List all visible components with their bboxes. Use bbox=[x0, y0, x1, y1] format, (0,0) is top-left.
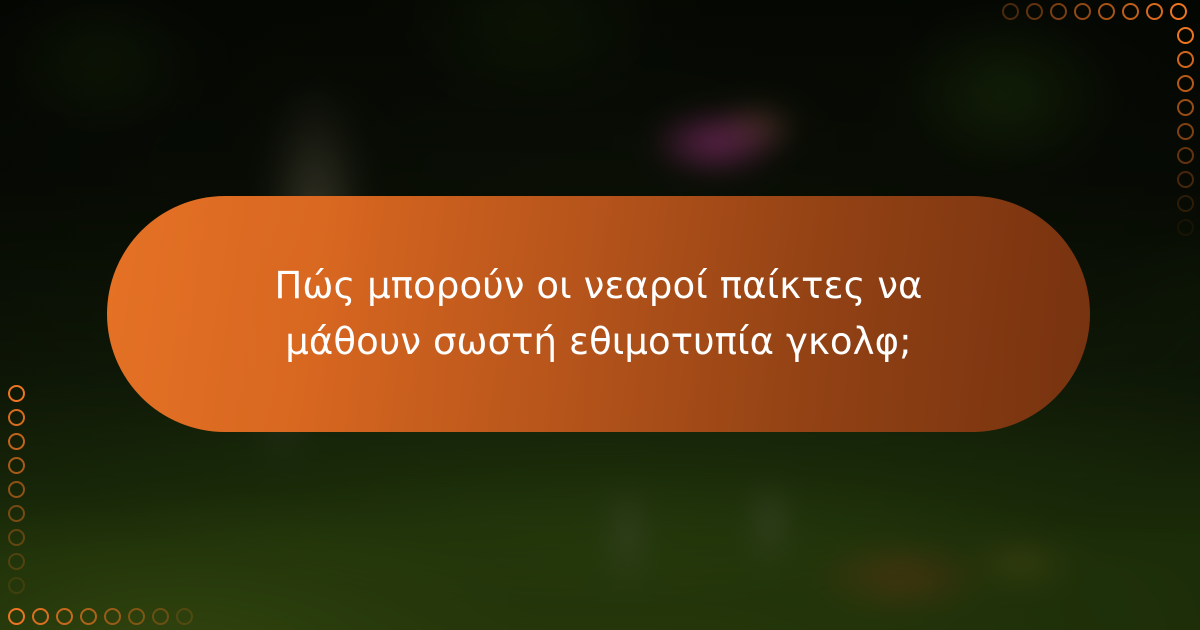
decorative-ring-icon bbox=[1074, 3, 1091, 20]
decorative-ring-icon bbox=[128, 608, 145, 625]
decorative-ring-icon bbox=[104, 608, 121, 625]
decorative-dots-left-column bbox=[8, 385, 25, 601]
decorative-dots-top-right-row bbox=[1002, 3, 1194, 20]
decorative-ring-icon bbox=[1177, 123, 1194, 140]
decorative-ring-icon bbox=[1177, 27, 1194, 44]
headline-text: Πώς μπορούν οι νεαροί παίκτες να μάθουν … bbox=[219, 258, 979, 370]
decorative-ring-icon bbox=[1177, 51, 1194, 68]
decorative-ring-icon bbox=[8, 529, 25, 546]
decorative-ring-icon bbox=[8, 457, 25, 474]
decorative-ring-icon bbox=[8, 481, 25, 498]
decorative-ring-icon bbox=[8, 433, 25, 450]
decorative-ring-icon bbox=[1146, 3, 1163, 20]
decorative-ring-icon bbox=[176, 608, 193, 625]
decorative-ring-icon bbox=[1170, 3, 1187, 20]
decorative-ring-icon bbox=[1026, 3, 1043, 20]
decorative-ring-icon bbox=[1177, 171, 1194, 188]
decorative-ring-icon bbox=[8, 553, 25, 570]
decorative-ring-icon bbox=[56, 608, 73, 625]
decorative-ring-icon bbox=[8, 505, 25, 522]
decorative-ring-icon bbox=[8, 385, 25, 402]
decorative-ring-icon bbox=[8, 608, 25, 625]
decorative-ring-icon bbox=[1122, 3, 1139, 20]
decorative-ring-icon bbox=[1177, 195, 1194, 212]
decorative-ring-icon bbox=[80, 608, 97, 625]
decorative-ring-icon bbox=[32, 608, 49, 625]
decorative-ring-icon bbox=[1098, 3, 1115, 20]
decorative-ring-icon bbox=[8, 409, 25, 426]
decorative-ring-icon bbox=[1177, 147, 1194, 164]
decorative-ring-icon bbox=[1177, 99, 1194, 116]
decorative-dots-right-column bbox=[1177, 27, 1194, 243]
decorative-ring-icon bbox=[1177, 219, 1194, 236]
decorative-ring-icon bbox=[1177, 75, 1194, 92]
headline-card: Πώς μπορούν οι νεαροί παίκτες να μάθουν … bbox=[107, 196, 1090, 432]
decorative-ring-icon bbox=[1002, 3, 1019, 20]
social-card-canvas: Πώς μπορούν οι νεαροί παίκτες να μάθουν … bbox=[0, 0, 1200, 630]
decorative-ring-icon bbox=[8, 577, 25, 594]
decorative-ring-icon bbox=[1050, 3, 1067, 20]
decorative-ring-icon bbox=[152, 608, 169, 625]
decorative-dots-bottom-left-row bbox=[8, 608, 200, 625]
